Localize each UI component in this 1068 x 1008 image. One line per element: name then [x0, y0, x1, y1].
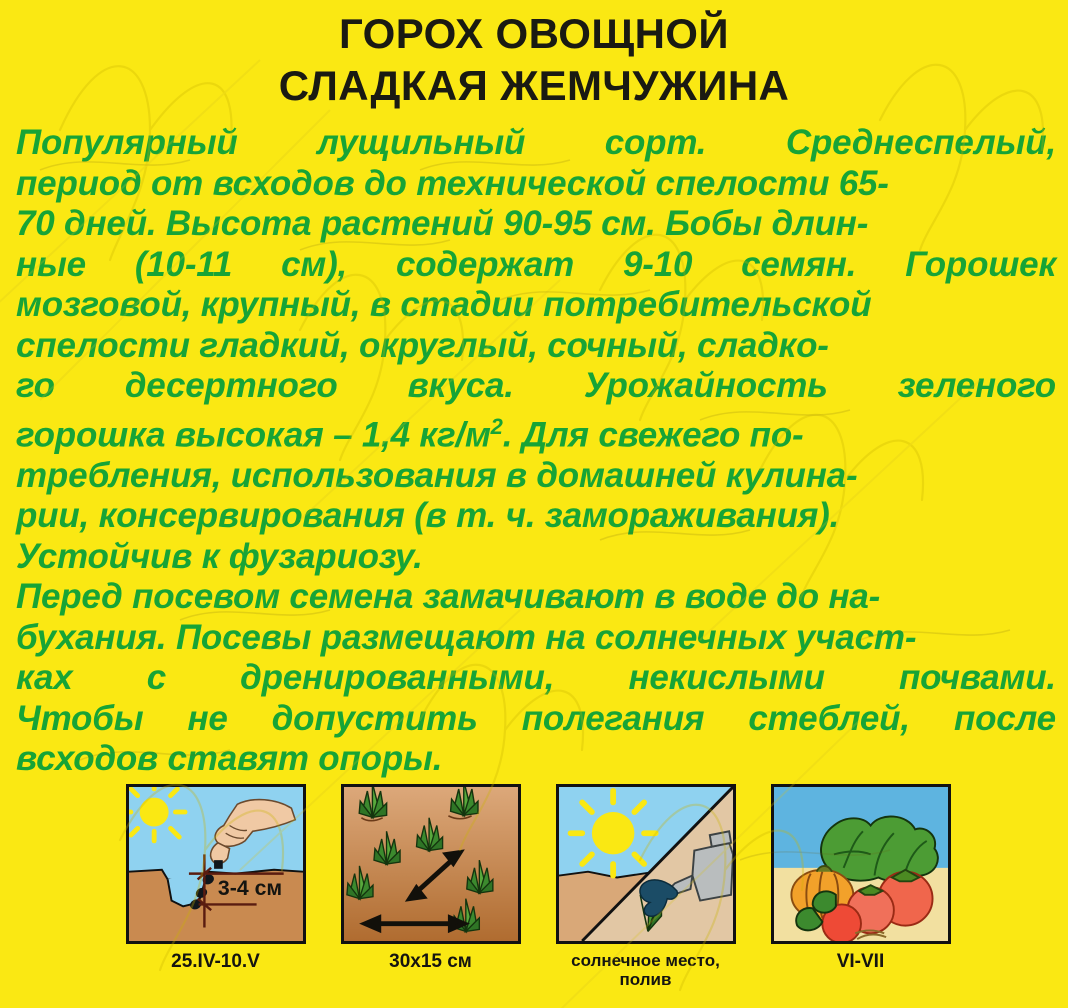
- desc-line: Перед посевом семена замачивают в воде д…: [16, 577, 1056, 618]
- panel-sowing-caption: 25.IV-10.V: [171, 951, 260, 972]
- desc-line: период от всходов до технической спелост…: [16, 164, 1056, 205]
- plant-spacing-icon: [341, 784, 521, 944]
- desc-line: Популярный лущильный сорт. Среднеспелый,: [16, 123, 1056, 164]
- panel-sowing: 3-4 см 25.IV-10.V: [108, 784, 323, 1004]
- desc-line: 70 дней. Высота растений 90-95 см. Бобы …: [16, 204, 1056, 245]
- desc-line: спелости гладкий, округлый, сочный, слад…: [16, 326, 1056, 367]
- sowing-depth-icon: 3-4 см: [126, 784, 306, 944]
- panel-sun-water: солнечное место, полив: [538, 784, 753, 1004]
- panel-sun-water-caption: солнечное место, полив: [571, 951, 720, 989]
- fresh-use-text: Для свежего по-: [522, 415, 804, 454]
- yield-text: горошка высокая – 1,4 кг/м: [16, 415, 491, 454]
- square-meter-superscript: 2: [491, 414, 503, 439]
- variety-name: СЛАДКАЯ ЖЕМЧУЖИНА: [0, 60, 1068, 112]
- desc-line: требления, использования в домашней кули…: [16, 456, 1056, 497]
- desc-line: го десертного вкуса. Урожайность зеленог…: [16, 366, 1056, 407]
- desc-line: мозговой, крупный, в стадии потребительс…: [16, 285, 1056, 326]
- crop-name: ГОРОХ ОВОЩНОЙ: [0, 8, 1068, 60]
- desc-line-yield: горошка высокая – 1,4 кг/м2. Для свежего…: [16, 407, 1056, 456]
- desc-line: бухания. Посевы размещают на солнечных у…: [16, 618, 1056, 659]
- panel-spacing-caption: 30x15 см: [389, 951, 472, 972]
- panel-harvest: VI-VII: [753, 784, 968, 1004]
- harvest-icon: [771, 784, 951, 944]
- description-paragraph-2: Перед посевом семена замачивают в воде д…: [16, 577, 1056, 780]
- desc-line: рии, консервирования (в т. ч. заморажива…: [16, 496, 1056, 537]
- caption-line-2: полив: [571, 970, 720, 989]
- desc-line: Устойчив к фузариозу.: [16, 537, 1056, 578]
- panel-harvest-caption: VI-VII: [837, 951, 885, 972]
- desc-line: ные (10-11 см), содержат 9-10 семян. Гор…: [16, 245, 1056, 286]
- desc-line: всходов ставят опоры.: [16, 739, 1056, 780]
- growing-instruction-panels: 3-4 см 25.IV-10.V: [108, 784, 968, 1004]
- seed-packet-back: ГОРОХ ОВОЩНОЙ СЛАДКАЯ ЖЕМЧУЖИНА Популярн…: [0, 0, 1068, 1008]
- svg-text:3-4 см: 3-4 см: [217, 877, 281, 900]
- desc-line: Чтобы не допустить полегания стеблей, по…: [16, 699, 1056, 740]
- desc-line: ках с дренированными, некислыми почвами.: [16, 658, 1056, 699]
- description-text: Популярный лущильный сорт. Среднеспелый,…: [16, 123, 1056, 780]
- description-paragraph-1: Популярный лущильный сорт. Среднеспелый,…: [16, 123, 1056, 577]
- yield-period: .: [503, 415, 513, 454]
- page-title: ГОРОХ ОВОЩНОЙ СЛАДКАЯ ЖЕМЧУЖИНА: [0, 8, 1068, 112]
- sun-watering-icon: [556, 784, 736, 944]
- panel-spacing: 30x15 см: [323, 784, 538, 1004]
- caption-line-1: солнечное место,: [571, 951, 720, 970]
